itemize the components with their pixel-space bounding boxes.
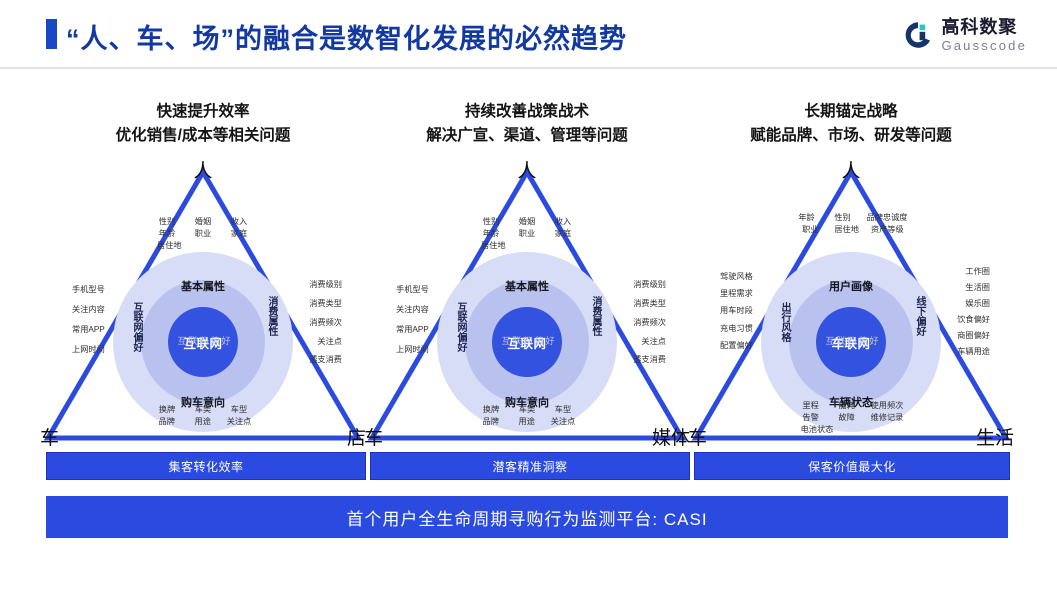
satellite-label: 家庭 [227,228,251,240]
triangle-bottom-left-label-3: 车 [688,423,707,450]
satellite-label: 消费频次 [309,314,342,333]
slide-header: “人、车、场”的融合是数智化发展的必然趋势 高科数聚 Gausscode [0,0,1057,68]
triangle-bottom-left-label-1: 车 [40,423,59,450]
satellite-label: 关注内容 [72,300,105,320]
result-bar-2[interactable]: 潜客精准洞察 [370,452,690,480]
satellite-label: 常用APP [396,320,429,340]
satellite-label: 车类 [515,404,539,416]
ring-right-vertical-label: 消费属性 [264,296,279,336]
satellite-label: 充电习惯 [720,320,753,337]
satellite-label: 居住地 [481,240,506,252]
triangle-apex-label-2: 人 [517,156,536,183]
satellite-label: 车型 [551,404,575,416]
satellite-label: 品牌忠诚度 [867,212,908,224]
satellite-label: 用途 [515,416,539,428]
satellite-label: 消费级别 [633,276,666,295]
satellite-label: 关注点 [227,416,252,428]
satellites-right-1: 消费级别 消费类型 消费频次 关注点 透支消费 [309,276,342,370]
satellite-label: 换牌 [479,404,503,416]
satellite-label: 居住地 [157,240,182,252]
column-heading-3: 长期锚定战略 赋能品牌、市场、研发等问题 [686,100,1016,148]
heading-line-1: 快速提升效率 [38,100,368,124]
heading-line-1: 持续改善战策战术 [362,100,692,124]
satellite-label: 收入 [551,216,575,228]
logo-text: 高科数聚 Gausscode [941,18,1027,52]
ring-left-vertical-label: 互联网偏好 [129,302,144,352]
satellites-right-2: 消费级别 消费类型 消费频次 关注点 透支消费 [633,276,666,370]
satellite-label: 家庭 [551,228,575,240]
satellite-label: 关注内容 [396,300,429,320]
satellite-label: 年龄 [479,228,503,240]
satellite-label: 消费类型 [309,295,342,314]
logo-text-cn: 高科数聚 [941,18,1027,36]
satellite-label: 常用APP [72,320,105,340]
ring-left-vertical-label: 互联网偏好 [453,302,468,352]
satellite-label: 告警 [799,412,823,424]
satellite-label: 关注点 [551,416,576,428]
satellite-label: 用途 [191,416,215,428]
column-heading-1: 快速提升效率 优化销售/成本等相关问题 [38,100,368,148]
satellite-label: 娱乐圈 [957,296,990,312]
triangle-apex-label-3: 人 [841,156,860,183]
satellite-label: 品牌 [479,416,503,428]
satellite-label: 上网时间 [72,340,105,360]
satellite-label: 透支消费 [633,351,666,370]
satellite-label: 手机型号 [72,280,105,300]
satellite-label: 车类 [191,404,215,416]
satellite-label: 里程需求 [720,285,753,302]
satellite-label: 性别 [155,216,179,228]
satellite-label: 性别 [831,212,855,224]
satellite-label: 车辆用途 [957,344,990,360]
satellite-label: 关注点 [309,333,342,352]
triangle-block-3: 人 车 生活 车联网 互联网偏好 用户画像 车辆状态 出行风格 线下偏好 年龄性… [686,160,1016,450]
result-bar-3[interactable]: 保客价值最大化 [694,452,1010,480]
satellites-left-1: 手机型号 关注内容 常用APP 上网时间 [72,280,105,360]
triangle-block-1: 人 车 店 互联网 互联网偏好 基本属性 购车意向 互联网偏好 消费属性 性别婚… [38,160,368,450]
satellite-label: 里程 [799,400,823,412]
satellite-label: 用车时段 [720,302,753,319]
satellite-label: 消费频次 [633,314,666,333]
satellite-label: 手机型号 [396,280,429,300]
triangle-block-2: 人 车 媒体 互联网 互联网偏好 基本属性 购车意向 互联网偏好 消费属性 性别… [362,160,692,450]
heading-line-2: 优化销售/成本等相关问题 [38,124,368,148]
satellite-label: 关注点 [633,333,666,352]
satellites-bottom-2: 换牌车类车型 品牌用途关注点 [479,404,576,428]
satellite-label: 维修记录 [871,412,904,424]
platform-footer-bar[interactable]: 首个用户全生命周期寻购行为监测平台: CASI [46,496,1008,538]
satellite-label: 居住地 [834,224,859,236]
satellites-right-3: 工作圈 生活圈 娱乐圈 饮食偏好 商圈偏好 车辆用途 [957,264,990,360]
satellite-label: 使用频次 [871,400,904,412]
satellite-label: 电池状态 [801,424,834,436]
satellite-label: 车型 [227,404,251,416]
satellites-top-2: 性别婚姻收入 年龄职业家庭 居住地 [479,216,575,252]
triangle-bottom-left-label-2: 车 [364,423,383,450]
satellite-label: 饮食偏好 [957,312,990,328]
ring-right-vertical-label: 线下偏好 [912,296,927,336]
satellite-label: 年龄 [795,212,819,224]
satellite-label: 品牌 [155,416,179,428]
triangle-bottom-right-label-2: 媒体 [652,423,690,450]
column-heading-2: 持续改善战策战术 解决广宣、渠道、管理等问题 [362,100,692,148]
triangle-apex-label-1: 人 [193,156,212,183]
satellites-left-2: 手机型号 关注内容 常用APP 上网时间 [396,280,429,360]
ring-top-label: 基本属性 [437,278,617,294]
ring-top-label: 用户画像 [761,278,941,294]
logo-text-en: Gausscode [941,39,1027,52]
satellites-top-1: 性别婚姻收入 年龄职业家庭 居住地 [155,216,251,252]
satellite-label: 换牌 [155,404,179,416]
satellite-label: 故障 [835,412,859,424]
gausscode-logo-icon [902,19,934,51]
satellite-label: 收入 [227,216,251,228]
satellite-label: 婚姻 [191,216,215,228]
satellite-label: 驾驶风格 [720,268,753,285]
satellite-label: 消费类型 [633,295,666,314]
slide-root: “人、车、场”的融合是数智化发展的必然趋势 高科数聚 Gausscode 快速提… [0,0,1057,589]
satellite-label: 配置偏好 [720,337,753,354]
satellite-label: 资产等级 [871,224,904,236]
satellite-label: 上网时间 [396,340,429,360]
heading-line-1: 长期锚定战略 [686,100,1016,124]
result-bar-1[interactable]: 集客转化效率 [46,452,366,480]
satellite-label: 工作圈 [957,264,990,280]
satellite-label: 职业 [515,228,539,240]
satellite-label: 生活圈 [957,280,990,296]
page-title: “人、车、场”的融合是数智化发展的必然趋势 [66,17,627,56]
satellite-label: 消费级别 [309,276,342,295]
satellites-bottom-1: 换牌车类车型 品牌用途关注点 [155,404,252,428]
satellite-label: 能耗 [835,400,859,412]
header-divider [0,67,1057,69]
satellite-label: 职业 [798,224,822,236]
satellite-label: 职业 [191,228,215,240]
ring-left-vertical-label: 出行风格 [777,302,792,342]
satellites-bottom-3: 里程能耗使用频次 告警故障维修记录 电池状态 [799,400,904,436]
ring-top-label: 基本属性 [113,278,293,294]
ring-right-vertical-label: 消费属性 [588,296,603,336]
satellite-label: 婚姻 [515,216,539,228]
triangle-bottom-right-label-3: 生活 [976,423,1014,450]
satellites-top-3: 年龄性别品牌忠诚度 职业居住地资产等级 [795,212,908,236]
brand-logo: 高科数聚 Gausscode [902,18,1027,52]
satellite-label: 性别 [479,216,503,228]
satellite-label: 年龄 [155,228,179,240]
title-accent-bar [46,19,57,49]
satellites-left-3: 驾驶风格 里程需求 用车时段 充电习惯 配置偏好 [720,268,753,354]
satellite-label: 商圈偏好 [957,328,990,344]
heading-line-2: 赋能品牌、市场、研发等问题 [686,124,1016,148]
heading-line-2: 解决广宣、渠道、管理等问题 [362,124,692,148]
satellite-label: 透支消费 [309,351,342,370]
